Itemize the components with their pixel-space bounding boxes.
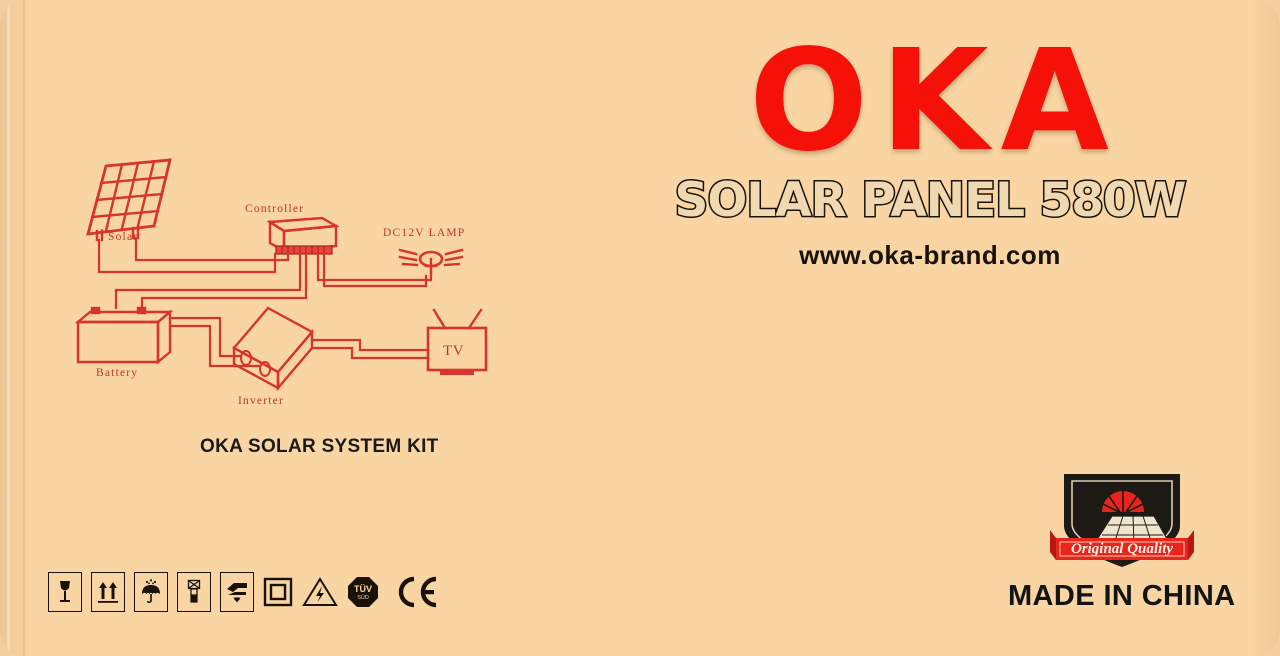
- fold-crease-outer: [7, 0, 10, 656]
- electrical-hazard-icon: [302, 576, 338, 608]
- label-controller: Controller: [245, 203, 304, 215]
- this-side-up-icon: [91, 572, 125, 612]
- website-url: www.oka-brand.com: [600, 240, 1260, 271]
- carton-box-face: Solar Controller DC12V LAMP Battery Inve…: [0, 0, 1280, 656]
- made-in-china-text: MADE IN CHINA: [1008, 580, 1236, 613]
- label-battery: Battery: [96, 367, 138, 379]
- svg-text:SÜD: SÜD: [357, 594, 369, 601]
- controller-graphic: [270, 218, 336, 254]
- fragile-icon: [48, 572, 82, 612]
- original-quality-badge: Original Quality: [1042, 468, 1202, 573]
- product-title: SOLAR PANEL 580W: [600, 173, 1260, 228]
- no-hand-truck-icon: [177, 572, 211, 612]
- handling-icons-row: TÜV SÜD: [48, 572, 440, 612]
- solar-system-wiring-diagram: Solar Controller DC12V LAMP Battery Inve…: [60, 150, 600, 420]
- brand-block: OKA SOLAR PANEL 580W www.oka-brand.com: [600, 38, 1260, 271]
- wiring-lines: [99, 238, 431, 366]
- left-edge-shading: [0, 0, 30, 656]
- battery-graphic: [78, 308, 170, 362]
- label-solar: Solar: [108, 231, 138, 243]
- class-ii-icon: [263, 577, 293, 607]
- tuv-mark-icon: TÜV SÜD: [347, 576, 379, 608]
- lamp-graphic: [400, 250, 462, 274]
- badge-ribbon-text: Original Quality: [1071, 541, 1173, 557]
- label-tv: TV: [443, 343, 464, 359]
- label-inverter: Inverter: [238, 395, 284, 407]
- kit-caption: OKA SOLAR SYSTEM KIT: [200, 436, 439, 458]
- label-lamp: DC12V LAMP: [383, 227, 465, 239]
- keep-dry-icon: [134, 572, 168, 612]
- ce-mark-icon: [394, 575, 440, 609]
- svg-text:TÜV: TÜV: [354, 584, 372, 594]
- fold-crease-inner: [23, 0, 25, 656]
- do-not-stack-icon: [220, 572, 254, 612]
- solar-panel-graphic: [88, 160, 170, 240]
- inverter-graphic: [234, 308, 312, 388]
- oka-logo: OKA: [610, 38, 1260, 167]
